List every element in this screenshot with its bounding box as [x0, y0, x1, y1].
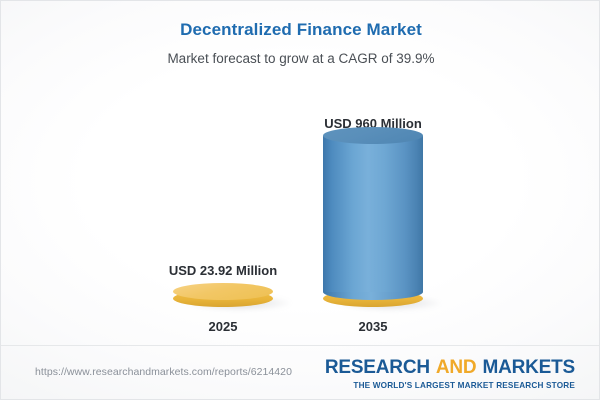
page-title: Decentralized Finance Market — [1, 19, 600, 41]
cylinder-bar-2035[interactable] — [323, 127, 423, 307]
bar-category-label-2035: 2035 — [273, 318, 473, 335]
logo-tagline: THE WORLD'S LARGEST MARKET RESEARCH STOR… — [325, 380, 575, 391]
footer: https://www.researchandmarkets.com/repor… — [1, 346, 600, 399]
chart-subtitle: Market forecast to grow at a CAGR of 39.… — [1, 50, 600, 68]
bar-value-label-2025: USD 23.92 Million — [123, 262, 323, 279]
logo-word-and: AND — [436, 357, 477, 378]
chart-header: Decentralized Finance Market Market fore… — [1, 19, 600, 68]
logo-word-markets: MARKETS — [482, 357, 575, 378]
bar-body-2035 — [323, 136, 423, 292]
logo-wordmark: RESEARCHANDMARKETS — [325, 357, 575, 379]
chart-plot-area: USD 23.92 Million 2025 USD 960 Million 2… — [1, 85, 600, 335]
source-url-link[interactable]: https://www.researchandmarkets.com/repor… — [35, 366, 292, 378]
research-and-markets-logo[interactable]: RESEARCHANDMARKETS THE WORLD'S LARGEST M… — [325, 357, 575, 391]
bar-top-disc-2035 — [323, 127, 423, 144]
logo-word-research: RESEARCH — [325, 357, 430, 378]
cylinder-bar-2025[interactable] — [173, 283, 273, 307]
market-forecast-infographic: Decentralized Finance Market Market fore… — [0, 0, 600, 400]
bar-top-disc-2025 — [173, 283, 273, 300]
